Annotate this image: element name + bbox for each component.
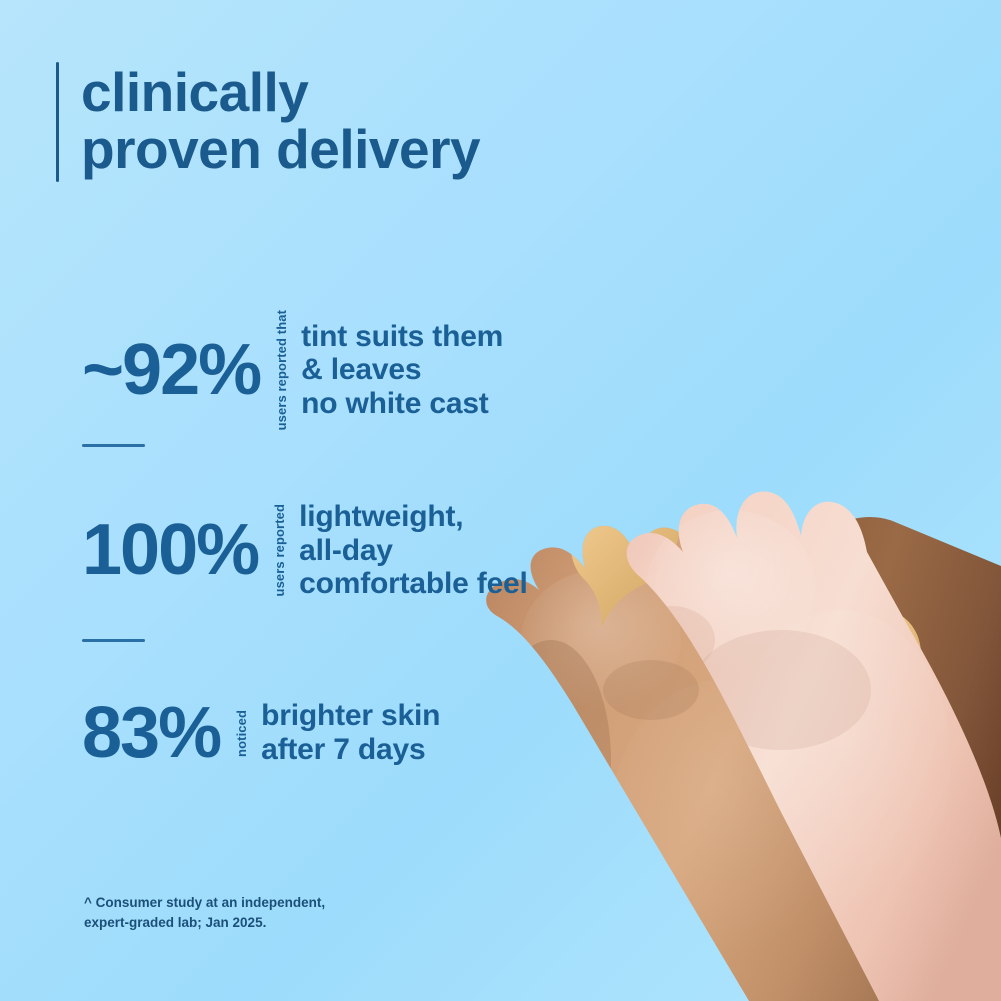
headline-accent-rule [56,62,59,182]
headline-block: clinically proven delivery [56,62,480,182]
stat-qualifier-2: users reported [272,504,287,596]
infographic-canvas: clinically proven delivery ~92% users re… [0,0,1001,1001]
stat-divider-2 [82,639,145,642]
stat-qualifier-3: noticed [234,710,249,757]
stat-divider-1 [82,444,145,447]
stat-value-3: 83% [82,697,220,769]
stat-qualifier-1: users reported that [274,310,289,430]
stat-description-1: tint suits them & leaves no white cast [301,320,503,421]
stat-description-3: brighter skin after 7 days [261,699,440,766]
stat-row-1: ~92% users reported that tint suits them… [82,310,503,430]
stat-value-1: ~92% [82,334,260,406]
stat-row-3: 83% noticed brighter skin after 7 days [82,697,440,769]
forearms-illustration [481,0,1001,1001]
stat-description-2: lightweight, all-day comfortable feel [299,500,528,601]
page-title: clinically proven delivery [81,62,480,182]
stat-row-2: 100% users reported lightweight, all-day… [82,500,528,601]
product-photo [481,0,1001,1001]
stat-value-2: 100% [82,514,258,586]
footnote-text: ^ Consumer study at an independent, expe… [84,893,325,934]
sunscreen-swatch-light [769,143,884,310]
